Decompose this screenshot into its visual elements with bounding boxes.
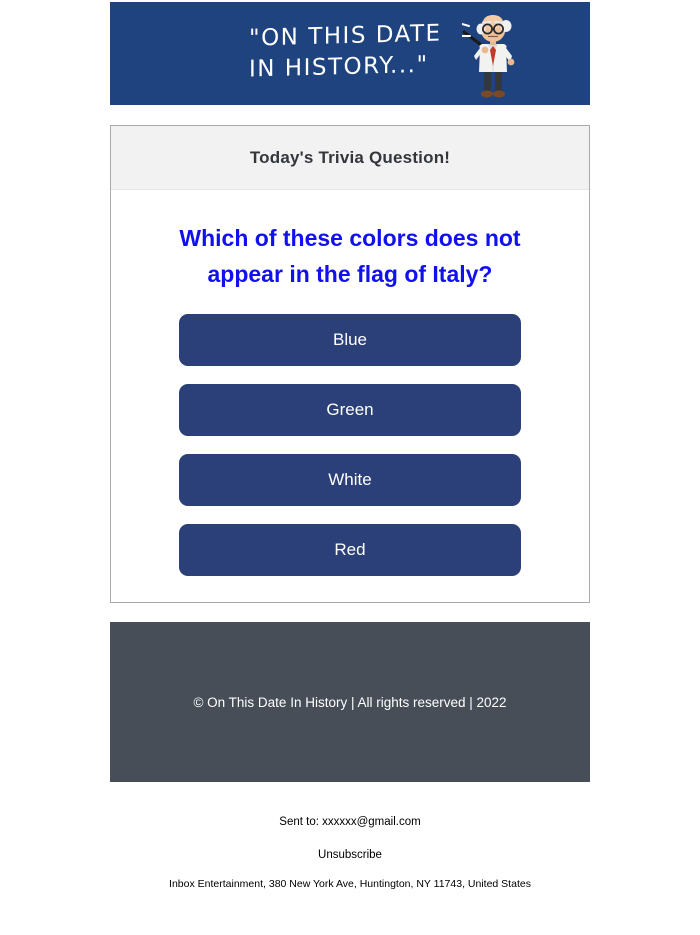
answer-option-white[interactable]: White: [179, 454, 521, 506]
answer-option-red[interactable]: Red: [179, 524, 521, 576]
mailing-address-text: Inbox Entertainment, 380 New York Ave, H…: [0, 875, 700, 893]
email-body: "ON THIS DATE IN HISTORY...": [0, 0, 700, 935]
trivia-question: Which of these colors does not appear in…: [133, 220, 567, 292]
trivia-card-body: Which of these colors does not appear in…: [111, 190, 589, 576]
unsubscribe-link[interactable]: Unsubscribe: [0, 845, 700, 865]
email-header-banner: "ON THIS DATE IN HISTORY...": [110, 2, 590, 105]
banner-title-line1: "ON THIS DATE: [249, 20, 442, 51]
professor-mascot-icon: [462, 10, 524, 100]
answer-option-blue[interactable]: Blue: [179, 314, 521, 366]
copyright-text: © On This Date In History | All rights r…: [193, 695, 506, 710]
trivia-card-header: Today's Trivia Question!: [111, 126, 589, 190]
legal-block: Sent to: xxxxxx@gmail.com Unsubscribe In…: [0, 812, 700, 893]
email-footer-bar: © On This Date In History | All rights r…: [110, 622, 590, 782]
answer-option-green[interactable]: Green: [179, 384, 521, 436]
banner-title: "ON THIS DATE IN HISTORY...": [249, 18, 442, 85]
card-title: Today's Trivia Question!: [250, 148, 450, 168]
sent-to-text: Sent to: xxxxxx@gmail.com: [0, 812, 700, 832]
trivia-card: Today's Trivia Question! Which of these …: [110, 125, 590, 603]
banner-title-line2: IN HISTORY...": [249, 51, 429, 82]
answer-options-list: Blue Green White Red: [133, 314, 567, 576]
